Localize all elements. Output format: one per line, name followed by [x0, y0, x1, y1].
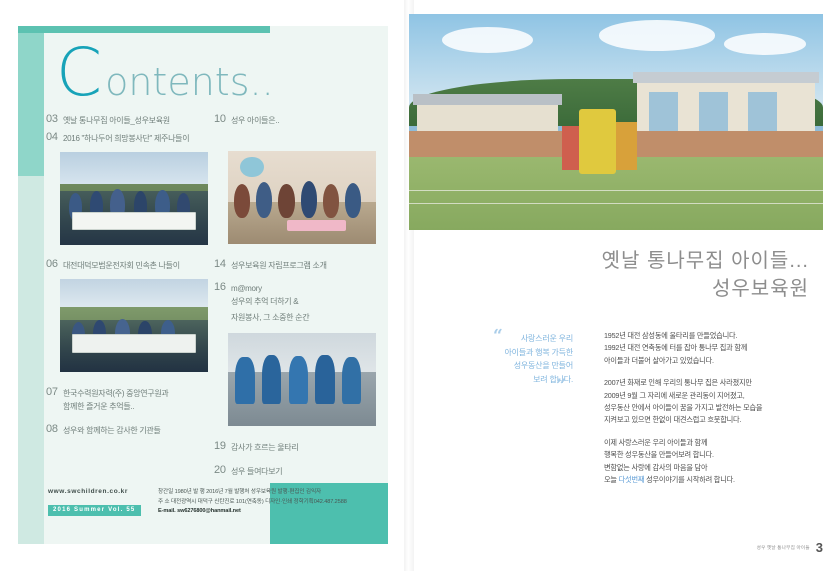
- photo-child: [345, 183, 361, 218]
- pull-quote-line: 성우동산을 만들어: [493, 359, 573, 373]
- decor-bar-left-bottom: [18, 176, 44, 544]
- seongwoo-center-building-photo: [409, 14, 823, 230]
- publication-info: 창간일 1980년 발 행 2016년 7월 발행처 성우보육원 발행·편집인 …: [158, 488, 383, 517]
- toc-label-line3: 자원봉사, 그 소중한 순간: [231, 311, 309, 324]
- decor-bar-left-top: [18, 26, 44, 176]
- hero-roof-left: [413, 94, 562, 105]
- toc-number: 06: [46, 257, 63, 271]
- body-paragraph-1: 1952년 대전 삼성동에 울타리를 만들었습니다. 1992년 대전 연축동에…: [604, 330, 804, 367]
- body-line: 변함없는 사랑에 감사의 마음을 담아: [604, 463, 707, 472]
- toc-label: 성우 아이들은..: [231, 112, 279, 127]
- left-page: C ontents.. 03 옛날 통나무집 아이들_성우보육원 04 2016…: [0, 0, 418, 571]
- toc-label: 대전대덕모범운전자회 민속촌 나들이: [63, 257, 180, 272]
- body-line: 이제 사랑스러운 우리 아이들과 함께: [604, 438, 707, 447]
- decor-bar-top: [18, 26, 270, 33]
- cloud-shape: [599, 20, 715, 50]
- photo-volunteer: [342, 357, 361, 404]
- photo-banner: [72, 212, 196, 230]
- publication-line-1: 창간일 1980년 발 행 2016년 7월 발행처 성우보육원 발행·편집인 …: [158, 488, 383, 498]
- hero-playground-structure: [579, 109, 616, 174]
- photo-child: [234, 184, 250, 217]
- toc-entry-10[interactable]: 10 성우 아이들은..: [214, 112, 374, 127]
- article-title-line1: 옛날 통나무집 아이들...: [409, 248, 809, 275]
- photo-volunteer: [289, 356, 308, 403]
- page-title: C ontents..: [56, 44, 274, 102]
- body-line: 행복한 성우동산을 만들어보려 합니다.: [604, 450, 714, 459]
- photo-child: [256, 182, 272, 218]
- toc-number: 20: [214, 463, 231, 477]
- toc-number: 08: [46, 422, 63, 436]
- toc-entry-19[interactable]: 19 감사가 흐르는 울타리: [214, 439, 374, 454]
- right-page-footer: 성우 옛날 통나무집 아이들 3: [757, 540, 823, 555]
- issue-badge: 2016 Summer Vol. 55: [48, 505, 141, 516]
- body-line: 성우동산 안에서 아이들이 꿈을 가지고 발전하는 모습을: [604, 403, 762, 412]
- body-line: 2009년 9월 그 자리에 새로운 관리동이 지어졌고,: [604, 391, 745, 400]
- toc-entry-04[interactable]: 04 2016 "하나두어 희망봉사단" 제주나들이: [46, 130, 206, 145]
- publication-line-2: 주 소 대전광역시 대덕구 신탄진로 101(연축동) 디자인·인쇄 정학기획0…: [158, 498, 383, 508]
- quote-close-icon: ”: [556, 381, 566, 391]
- photo-volunteer: [235, 357, 254, 404]
- body-line-prefix: 오늘: [604, 475, 619, 484]
- body-line: 아이들과 더불어 살아가고 있었습니다.: [604, 356, 714, 365]
- page-number: 3: [816, 540, 823, 555]
- article-title-line2: 성우보육원: [409, 275, 809, 303]
- photo-sky: [60, 152, 208, 184]
- photo-banner-pink: [287, 220, 346, 231]
- toc-label: m@mory 성우의 추억 더하기 & 자원봉사, 그 소중한 순간: [231, 280, 309, 324]
- photo-volunteer: [315, 355, 334, 403]
- toc-label: 감사가 흐르는 울타리: [231, 439, 298, 454]
- body-line: 1992년 대전 연축동에 터를 잡아 통나무 집과 함께: [604, 343, 747, 352]
- toc-label: 성우 들여다보기: [231, 463, 282, 478]
- body-highlight: 다섯번째: [619, 475, 645, 484]
- hero-track-line: [409, 203, 823, 205]
- toc-label: 옛날 통나무집 아이들_성우보육원: [63, 112, 170, 127]
- cloud-shape: [442, 27, 533, 53]
- hero-playground-post: [562, 126, 579, 169]
- toc-columns: 03 옛날 통나무집 아이들_성우보육원 04 2016 "하나두어 희망봉사단…: [46, 112, 376, 472]
- article-title: 옛날 통나무집 아이들... 성우보육원: [409, 248, 809, 303]
- hero-roof-main: [633, 72, 819, 83]
- toc-number: 07: [46, 385, 63, 399]
- photo-sky: [60, 279, 208, 307]
- toc-label-line1: 한국수력원자력(주) 중앙연구원과: [63, 389, 169, 398]
- toc-entry-08[interactable]: 08 성우와 함께하는 감사한 기관들: [46, 422, 206, 437]
- toc-column-left: 03 옛날 통나무집 아이들_성우보육원 04 2016 "하나두어 희망봉사단…: [46, 112, 206, 440]
- toc-entry-07[interactable]: 07 한국수력원자력(주) 중앙연구원과 함께한 즐거운 추억들..: [46, 385, 206, 413]
- toc-label-line2: 성우의 추억 더하기 &: [231, 295, 309, 308]
- pull-quote-line: 사랑스러운 우리: [493, 332, 573, 346]
- body-paragraph-2: 2007년 화재로 인해 우리의 통나무 집은 사라졌지만 2009년 9월 그…: [604, 377, 804, 427]
- body-line-suffix: 성우이야기를 시작하려 합니다.: [644, 475, 735, 484]
- toc-entry-14[interactable]: 14 성우보육원 자립프로그램 소개: [214, 257, 374, 272]
- toc-number: 10: [214, 112, 231, 126]
- hero-track-line: [409, 190, 823, 192]
- toc-number: 04: [46, 130, 63, 144]
- hero-playground-slide: [616, 122, 637, 170]
- toc-entry-20[interactable]: 20 성우 들여다보기: [214, 463, 374, 478]
- left-page-footer: www.swchildren.co.kr 2016 Summer Vol. 55…: [48, 488, 378, 532]
- toc-label-line2: 함께한 즐거운 추억들..: [63, 400, 169, 413]
- children-party-photo: [228, 151, 376, 244]
- photo-banner: [72, 334, 196, 354]
- toc-label-line1: m@mory: [231, 284, 262, 293]
- photo-child: [278, 184, 294, 218]
- photo-balloon: [240, 157, 264, 177]
- publication-email: E-mail. sw6276800@hanmail.net: [158, 507, 383, 517]
- body-line: 2007년 화재로 인해 우리의 통나무 집은 사라졌지만: [604, 378, 752, 387]
- contents-rest: ontents..: [105, 62, 274, 102]
- toc-label: 한국수력원자력(주) 중앙연구원과 함께한 즐거운 추억들..: [63, 385, 169, 413]
- toc-label: 성우와 함께하는 감사한 기관들: [63, 422, 161, 437]
- cloud-shape: [724, 33, 807, 55]
- toc-number: 16: [214, 280, 231, 294]
- body-paragraph-3: 이제 사랑스러운 우리 아이들과 함께 행복한 성우동산을 만들어보려 합니다.…: [604, 437, 804, 487]
- volunteers-blue-shirts-photo: [228, 333, 376, 426]
- toc-entry-16[interactable]: 16 m@mory 성우의 추억 더하기 & 자원봉사, 그 소중한 순간: [214, 280, 374, 324]
- article-body: 1952년 대전 삼성동에 울타리를 만들었습니다. 1992년 대전 연축동에…: [604, 330, 804, 496]
- folk-village-group-photo: [60, 279, 208, 372]
- toc-entry-06[interactable]: 06 대전대덕모범운전자회 민속촌 나들이: [46, 257, 206, 272]
- toc-label: 2016 "하나두어 희망봉사단" 제주나들이: [63, 130, 189, 145]
- body-line: 지켜보고 있으면 한없이 대견스럽고 흐뭇합니다.: [604, 415, 741, 424]
- pull-quote-line: 아이들과 행복 가득한: [493, 346, 573, 360]
- photo-child: [301, 181, 317, 218]
- jeju-group-photo: [60, 152, 208, 245]
- toc-column-right: 10 성우 아이들은.. 14: [214, 112, 374, 481]
- toc-number: 03: [46, 112, 63, 126]
- footer-caption: 성우 옛날 통나무집 아이들: [757, 545, 810, 551]
- contents-initial: C: [56, 44, 103, 102]
- toc-number: 19: [214, 439, 231, 453]
- toc-label: 성우보육원 자립프로그램 소개: [231, 257, 327, 272]
- photo-child: [323, 184, 339, 218]
- toc-entry-03[interactable]: 03 옛날 통나무집 아이들_성우보육원: [46, 112, 206, 127]
- photo-volunteer: [262, 355, 281, 403]
- body-line: 1952년 대전 삼성동에 울타리를 만들었습니다.: [604, 331, 737, 340]
- toc-number: 14: [214, 257, 231, 271]
